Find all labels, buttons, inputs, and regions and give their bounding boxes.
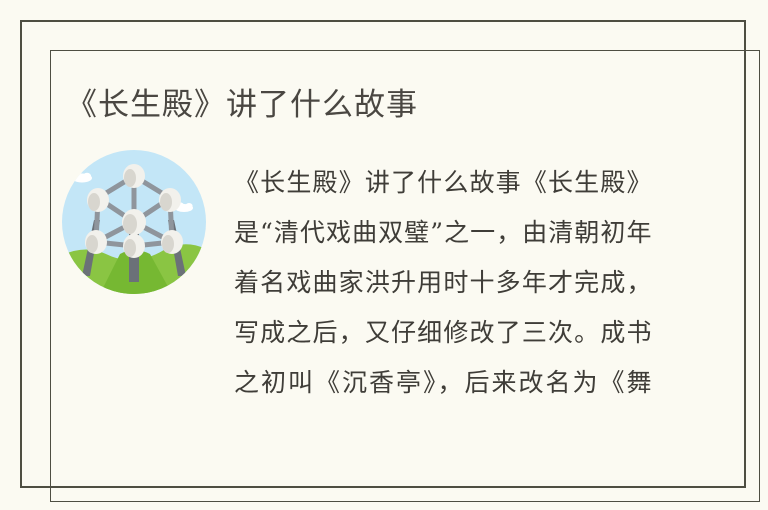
article-body-text: 《长生殿》讲了什么故事《长生殿》是“清代戏曲双璧”之一，由清朝初年着名戏曲家洪升…	[234, 158, 652, 408]
atomium-landmark-illustration	[60, 150, 208, 294]
page-title: 《长生殿》讲了什么故事	[66, 83, 686, 127]
article-card: 《长生殿》讲了什么故事	[0, 0, 768, 510]
cloud-icon	[72, 172, 92, 183]
